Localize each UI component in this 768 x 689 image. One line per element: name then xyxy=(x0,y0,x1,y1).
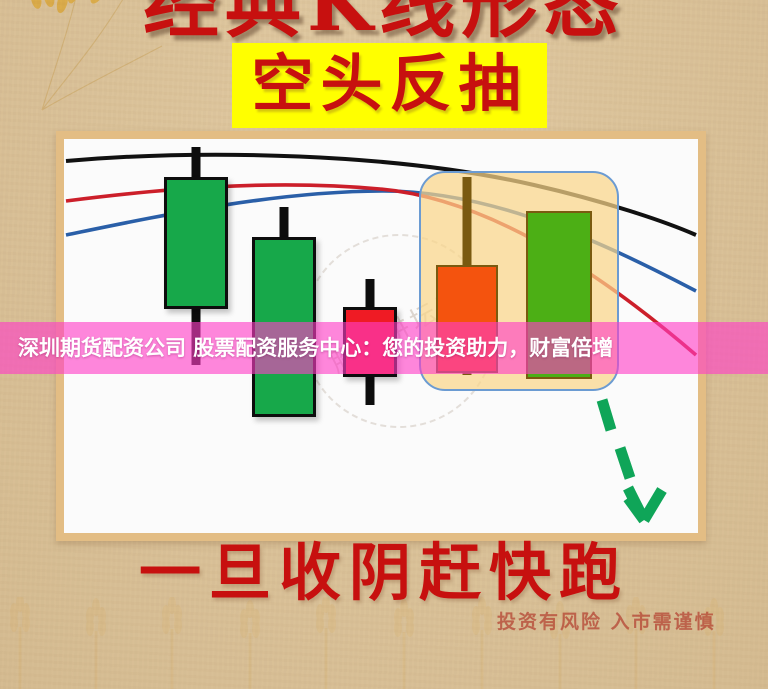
promo-overlay-text: 深圳期货配资公司 股票配资服务中心：您的投资助力，财富倍增 xyxy=(0,336,613,360)
page-title: 经典K线形态 xyxy=(0,0,768,42)
candle-2[interactable] xyxy=(252,139,316,439)
promo-overlay-band: 深圳期货配资公司 股票配资服务中心：您的投资助力，财富倍增 xyxy=(0,322,768,374)
candle-1-body xyxy=(164,177,228,309)
poster-root: 经典K线形态 空头反抽 股市讲坛网 xyxy=(0,0,768,689)
candle-3[interactable] xyxy=(343,139,397,419)
pattern-name-label: 空头反抽 xyxy=(251,53,527,115)
risk-disclaimer: 投资有风险 入市需谨慎 xyxy=(497,611,716,633)
pattern-name-banner: 空头反抽 xyxy=(232,43,547,128)
down-arrow-icon xyxy=(584,394,694,533)
bottom-caption: 一旦收阴赶快跑 xyxy=(0,538,768,608)
